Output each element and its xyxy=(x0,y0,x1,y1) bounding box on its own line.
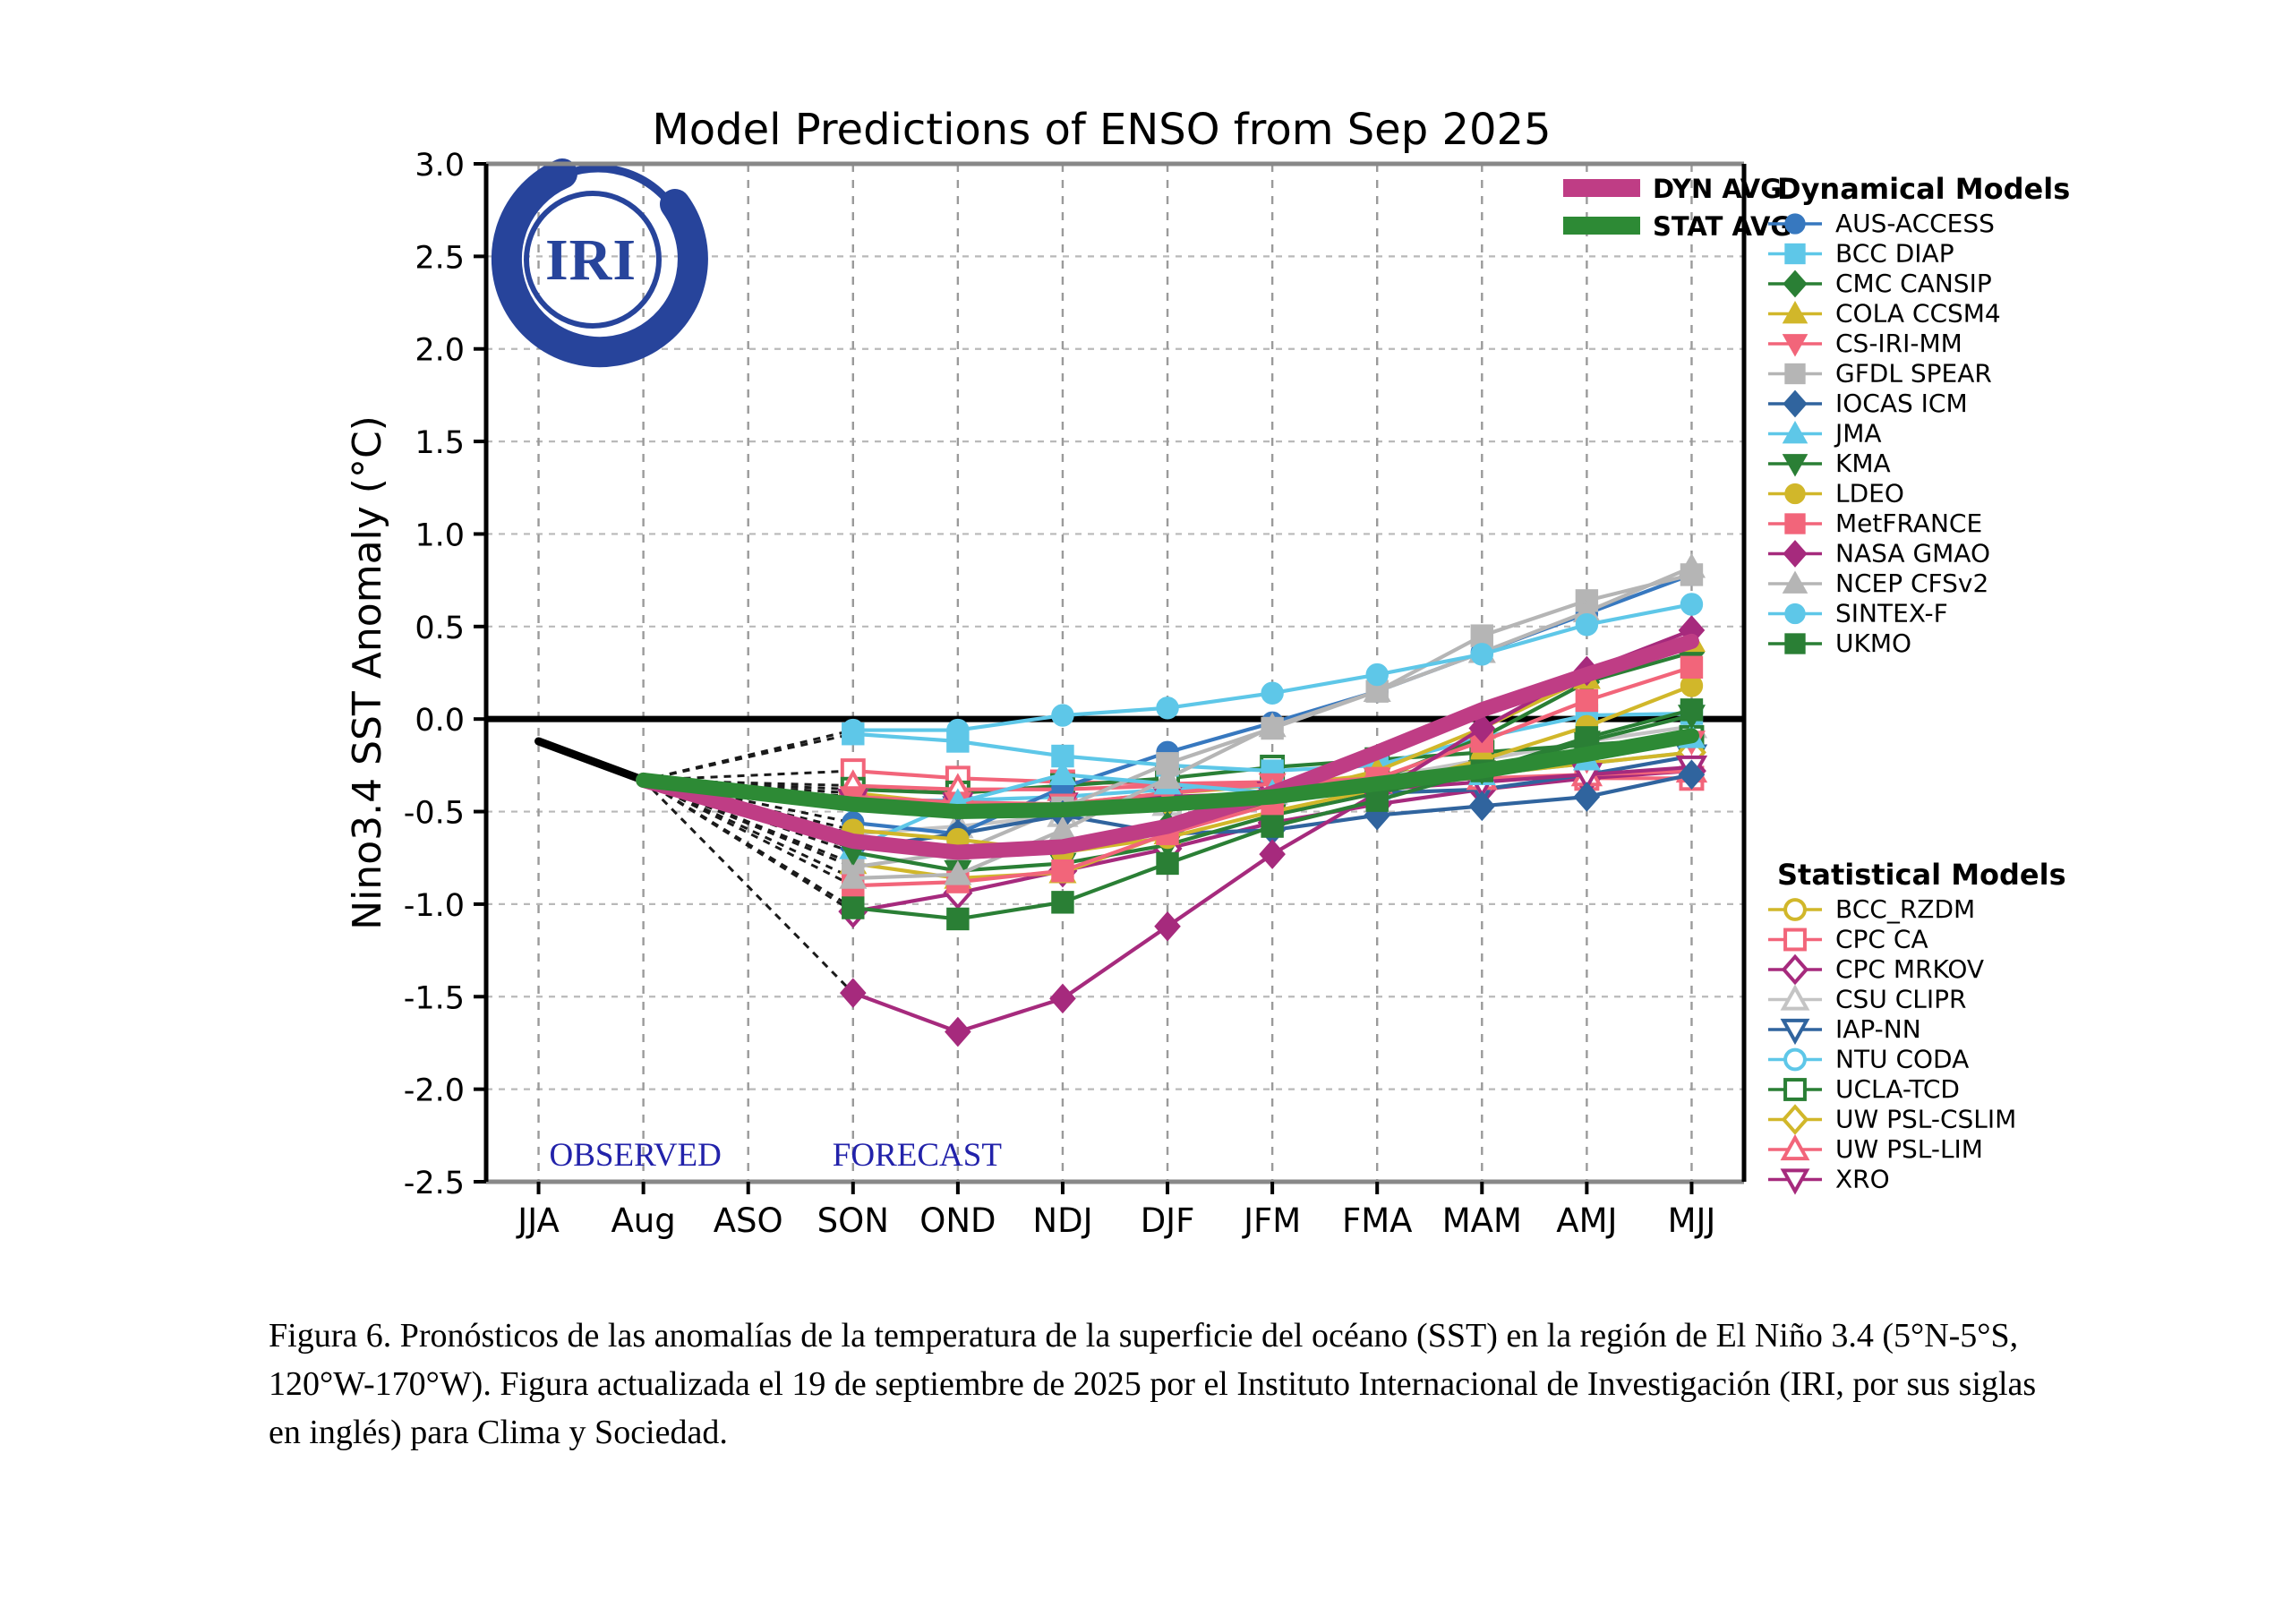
marker-circle xyxy=(1785,900,1805,919)
marker-square xyxy=(1680,699,1702,721)
legend-entry-iocas-icm[interactable]: IOCAS ICM xyxy=(1768,389,1968,418)
marker-square xyxy=(1576,727,1597,748)
x-axis-tick-label: MAM xyxy=(1442,1201,1522,1240)
marker-circle xyxy=(947,720,969,741)
legend-avg-swatch xyxy=(1563,217,1640,235)
legend-entry-label: UW PSL-LIM xyxy=(1835,1134,1983,1164)
legend-entry-label: KMA xyxy=(1835,449,1891,478)
y-axis-tick-label: -2.5 xyxy=(404,1166,465,1201)
forecast-label: FORECAST xyxy=(833,1137,1002,1174)
marker-diamond xyxy=(1783,957,1806,983)
marker-square xyxy=(1680,656,1702,678)
y-axis-tick-label: 1.5 xyxy=(415,425,465,461)
legend-entry-label: UW PSL-CSLIM xyxy=(1835,1105,2016,1134)
marker-square xyxy=(1052,892,1073,913)
x-axis-tick-label: DJF xyxy=(1141,1201,1195,1240)
legend-avg-swatch xyxy=(1563,179,1640,197)
chart-canvas: IRI3.02.52.01.51.00.50.0-0.5-1.0-1.5-2.0… xyxy=(0,0,2283,1253)
marker-square xyxy=(1052,860,1073,882)
legend-entry-cmc-cansip[interactable]: CMC CANSIP xyxy=(1768,269,1992,298)
legend-entry-label: LDEO xyxy=(1835,479,1904,509)
legend-entry-label: BCC_RZDM xyxy=(1835,894,1975,924)
marker-circle xyxy=(1785,604,1805,624)
legend-entry-xro[interactable]: XRO xyxy=(1768,1165,1890,1194)
marker-square xyxy=(1785,244,1805,264)
legend-entry-label: JMA xyxy=(1834,419,1882,449)
legend-entry-label: CSU CLIPR xyxy=(1835,985,1966,1014)
legend-entry-jma[interactable]: JMA xyxy=(1768,419,1882,449)
y-axis-tick-label: -2.0 xyxy=(404,1073,465,1109)
marker-square xyxy=(1785,930,1805,950)
marker-circle xyxy=(1576,614,1597,636)
marker-square xyxy=(1157,852,1178,874)
legend-entry-label: CMC CANSIP xyxy=(1835,269,1992,298)
legend-entry-label: CPC CA xyxy=(1835,925,1928,954)
legend-entry-cs-iri-mm[interactable]: CS-IRI-MM xyxy=(1768,329,1962,358)
marker-diamond xyxy=(1783,391,1806,417)
legend-heading-statistical: Statistical Models xyxy=(1777,858,2066,892)
marker-circle xyxy=(1052,705,1073,726)
x-axis-tick-label: ASO xyxy=(714,1201,783,1240)
y-axis-tick-label: 3.0 xyxy=(415,148,465,184)
legend-entry-sintex-f[interactable]: SINTEX-F xyxy=(1768,599,1948,628)
figure-page: IRI3.02.52.01.51.00.50.0-0.5-1.0-1.5-2.0… xyxy=(0,0,2283,1624)
legend-entry-uw-psl-cslim[interactable]: UW PSL-CSLIM xyxy=(1768,1105,2016,1134)
marker-square xyxy=(1785,514,1805,534)
x-axis-tick-label: FMA xyxy=(1342,1201,1413,1240)
marker-circle xyxy=(1471,644,1492,665)
marker-circle xyxy=(1366,664,1388,686)
legend-entry-cpc-ca[interactable]: CPC CA xyxy=(1768,925,1928,954)
marker-circle xyxy=(1785,484,1805,504)
x-axis-tick-label: NDJ xyxy=(1032,1201,1092,1240)
figure-caption: Figura 6. Pronósticos de las anomalías d… xyxy=(269,1312,2050,1457)
legend-entry-iap-nn[interactable]: IAP-NN xyxy=(1768,1014,1921,1044)
legend-entry-label: COLA CCSM4 xyxy=(1835,299,2001,329)
x-axis-tick-label: OND xyxy=(919,1201,996,1240)
marker-square xyxy=(1261,816,1283,837)
x-axis-tick-label: SON xyxy=(817,1201,889,1240)
marker-square xyxy=(1576,690,1597,712)
legend-entry-aus-access[interactable]: AUS-ACCESS xyxy=(1768,209,1995,238)
marker-square xyxy=(947,908,969,929)
legend-entry-ucla-tcd[interactable]: UCLA-TCD xyxy=(1768,1074,1960,1104)
marker-circle xyxy=(1157,697,1178,719)
y-axis-title: Nino3.4 SST Anomaly (°C) xyxy=(345,415,390,930)
marker-diamond xyxy=(1783,1107,1806,1133)
legend-entry-label: XRO xyxy=(1835,1165,1890,1194)
legend-entry-bcc-rzdm[interactable]: BCC_RZDM xyxy=(1768,894,1975,924)
marker-square xyxy=(1785,634,1805,654)
legend-heading-dynamical: Dynamical Models xyxy=(1777,172,2070,206)
legend-entry-label: NTU CODA xyxy=(1835,1045,1969,1074)
legend-entry-label: CS-IRI-MM xyxy=(1835,329,1962,358)
marker-square xyxy=(1785,364,1805,384)
legend-entry-bcc-diap[interactable]: BCC DIAP xyxy=(1768,239,1954,269)
x-axis-tick-label: AMJ xyxy=(1556,1201,1617,1240)
x-axis-tick-label: Aug xyxy=(611,1201,676,1240)
logo-text: IRI xyxy=(545,227,637,293)
legend-entry-label: BCC DIAP xyxy=(1835,239,1954,269)
marker-diamond xyxy=(1783,271,1806,297)
marker-circle xyxy=(1680,594,1702,615)
legend-entry-ntu-coda[interactable]: NTU CODA xyxy=(1768,1045,1969,1074)
legend-entry-ldeo[interactable]: LDEO xyxy=(1768,479,1904,509)
chart-title: Model Predictions of ENSO from Sep 2025 xyxy=(652,105,1551,155)
legend-avg-label: STAT AVG xyxy=(1653,211,1791,242)
legend-entry-nasa-gmao[interactable]: NASA GMAO xyxy=(1768,539,1990,568)
legend-entry-label: GFDL SPEAR xyxy=(1835,359,1992,389)
x-axis-tick-label: JFM xyxy=(1242,1201,1301,1240)
legend-entry-label: CPC MRKOV xyxy=(1835,954,1984,984)
y-axis-tick-label: 0.0 xyxy=(415,703,465,739)
legend-entry-ukmo[interactable]: UKMO xyxy=(1768,628,1911,658)
legend-entry-label: AUS-ACCESS xyxy=(1835,209,1995,238)
marker-circle xyxy=(1261,682,1283,704)
enso-forecast-chart: IRI3.02.52.01.51.00.50.0-0.5-1.0-1.5-2.0… xyxy=(0,0,2283,1253)
legend-entry-label: SINTEX-F xyxy=(1835,599,1948,628)
legend-entry-cola-ccsm4[interactable]: COLA CCSM4 xyxy=(1768,299,2001,329)
legend-entry-ncep-cfsv2[interactable]: NCEP CFSv2 xyxy=(1768,568,1988,598)
legend-entry-csu-clipr[interactable]: CSU CLIPR xyxy=(1768,985,1966,1014)
legend-entry-gfdl-spear[interactable]: GFDL SPEAR xyxy=(1768,359,1992,389)
y-axis-tick-label: 0.5 xyxy=(415,611,465,646)
legend-entry-label: UKMO xyxy=(1835,628,1911,658)
x-axis-tick-label: JJA xyxy=(516,1201,560,1240)
y-axis-tick-label: 2.0 xyxy=(415,333,465,369)
marker-diamond xyxy=(1783,541,1806,567)
marker-square xyxy=(1785,1080,1805,1099)
marker-circle xyxy=(1785,214,1805,234)
legend-entry-label: NCEP CFSv2 xyxy=(1835,568,1988,598)
legend-entry-cpc-mrkov[interactable]: CPC MRKOV xyxy=(1768,954,1984,984)
marker-circle xyxy=(842,720,864,741)
marker-square xyxy=(842,897,864,919)
legend-entry-label: MetFRANCE xyxy=(1835,509,1982,538)
legend-entry-kma[interactable]: KMA xyxy=(1768,449,1891,478)
marker-square xyxy=(1366,790,1388,811)
y-axis-tick-label: -0.5 xyxy=(404,796,465,832)
y-axis-tick-label: 2.5 xyxy=(415,240,465,276)
observed-label: OBSERVED xyxy=(550,1137,722,1174)
legend-entry-uw-psl-lim[interactable]: UW PSL-LIM xyxy=(1768,1134,1983,1164)
marker-circle xyxy=(1785,1050,1805,1070)
legend-entry-metfrance[interactable]: MetFRANCE xyxy=(1768,509,1982,538)
legend-entry-label: IOCAS ICM xyxy=(1835,389,1968,418)
legend-entry-label: IAP-NN xyxy=(1835,1014,1921,1044)
legend-avg-label: DYN AVG xyxy=(1653,174,1782,204)
y-axis-tick-label: 1.0 xyxy=(415,517,465,553)
y-axis-tick-label: -1.0 xyxy=(404,888,465,924)
legend-entry-label: UCLA-TCD xyxy=(1835,1074,1960,1104)
legend-entry-label: NASA GMAO xyxy=(1835,539,1990,568)
y-axis-tick-label: -1.5 xyxy=(404,980,465,1016)
x-axis-tick-label: MJJ xyxy=(1668,1201,1716,1240)
